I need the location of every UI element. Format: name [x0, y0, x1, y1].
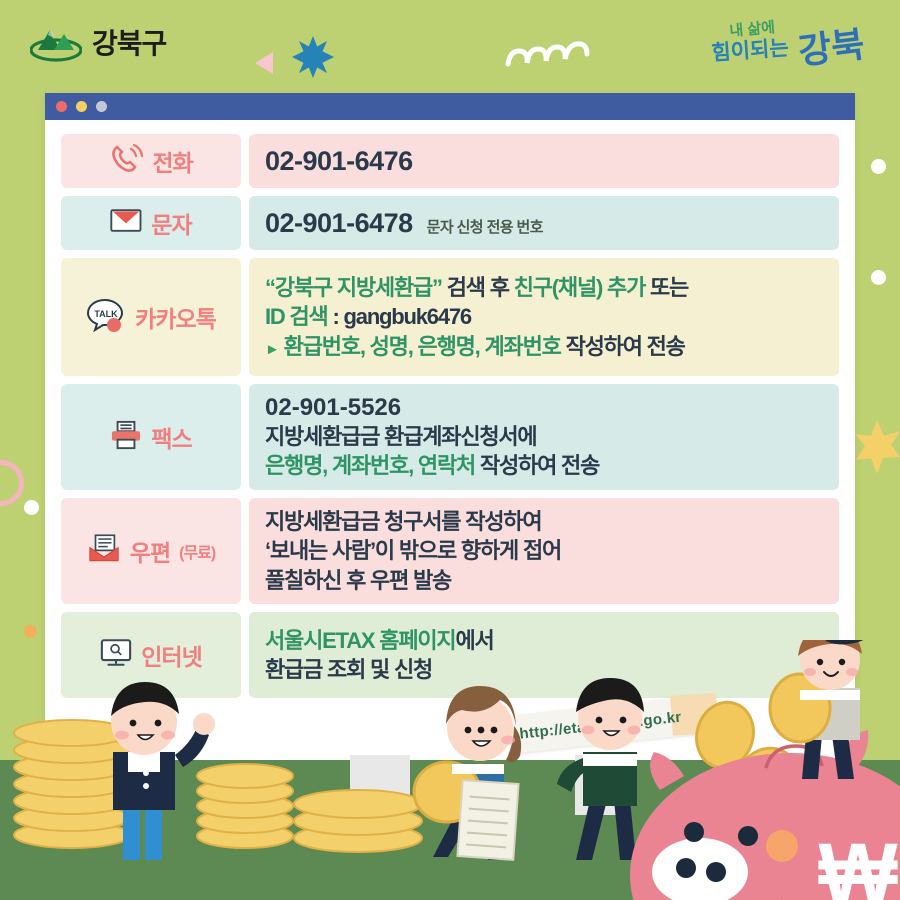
- blue-star-icon: [292, 36, 334, 78]
- phone-number: 02-901-6476: [265, 146, 413, 177]
- fax-form-text: 지방세환급금 환급계좌신청서에: [265, 424, 536, 449]
- row-label-text: 전화: [152, 144, 192, 178]
- kakao-add-friend: 친구(채널) 추가: [514, 275, 645, 300]
- coin-stack-icon: [14, 720, 422, 852]
- row-label-postal-mail: 우편 (무료): [61, 498, 241, 604]
- deco-dot-white-left: [24, 500, 39, 515]
- row-label-text: 우편: [130, 534, 170, 568]
- bullet-icon: ►: [265, 341, 279, 358]
- fax-printer-icon: [110, 420, 142, 455]
- kakao-text-2: 또는: [645, 275, 688, 300]
- table-row: 문자 02-901-6478 문자 신청 전용 번호: [61, 196, 839, 250]
- row-label-kakaotalk: TALK 카카오톡: [61, 258, 241, 376]
- sms-number: 02-901-6478: [265, 208, 413, 239]
- open-envelope-icon: [87, 534, 121, 568]
- row-label-text: 팩스: [151, 420, 191, 454]
- row-label-sub: (무료): [179, 539, 215, 563]
- bottom-illustration: ₩: [0, 640, 900, 900]
- row-label-phone: 전화: [61, 134, 241, 188]
- maximize-dot-icon[interactable]: [96, 101, 107, 112]
- table-row: 전화 02-901-6476: [61, 134, 839, 188]
- deco-arc-pink: [0, 460, 24, 506]
- district-name: 강북구: [92, 22, 166, 62]
- envelope-icon: [110, 208, 142, 238]
- close-dot-icon[interactable]: [56, 101, 67, 112]
- kakaotalk-line-3: ►환급번호, 성명, 은행명, 계좌번호 작성하여 전송: [265, 332, 823, 361]
- page-header: 강북구 내 삶에 힘이되는 강북: [0, 0, 900, 95]
- district-slogan: 내 삶에 힘이되는 강북: [708, 14, 878, 82]
- fax-required-fields: 은행명, 계좌번호, 연락처: [265, 453, 475, 478]
- row-body-kakaotalk: “강북구 지방세환급” 검색 후 친구(채널) 추가 또는 ID 검색 : ga…: [249, 258, 839, 376]
- piggy-bank-icon: ₩: [630, 730, 900, 900]
- kakao-text-1: 검색 후: [442, 275, 514, 300]
- kakao-search-term: “강북구 지방세환급”: [265, 275, 442, 300]
- mail-line-1: 지방세환급금 청구서를 작성하여: [265, 507, 823, 536]
- row-label-text: 문자: [151, 206, 191, 240]
- table-row: 팩스 02-901-5526 지방세환급금 환급계좌신청서에 은행명, 계좌번호…: [61, 384, 839, 490]
- kakao-id-label: ID 검색: [265, 304, 328, 329]
- row-label-text: 카카오톡: [135, 300, 216, 334]
- kakaotalk-line-1: “강북구 지방세환급” 검색 후 친구(채널) 추가 또는: [265, 273, 823, 302]
- fax-number: 02-901-5526: [265, 394, 823, 422]
- slogan-line1: 내 삶에: [729, 19, 776, 40]
- sms-note: 문자 신청 전용 번호: [427, 216, 543, 237]
- window-titlebar: [45, 93, 855, 120]
- deco-dot-white-right-mid: [871, 270, 886, 285]
- yellow-star-icon: [854, 418, 900, 474]
- mail-line-2: ‘보내는 사람’이 밖으로 향하게 접어: [265, 536, 823, 565]
- row-label-sms: 문자: [61, 196, 241, 250]
- won-symbol: ₩: [818, 826, 898, 900]
- kakaotalk-line-2: ID 검색 : gangbuk6476: [265, 302, 823, 331]
- row-body-phone: 02-901-6476: [249, 134, 839, 188]
- row-body-fax: 02-901-5526 지방세환급금 환급계좌신청서에 은행명, 계좌번호, 연…: [249, 384, 839, 490]
- district-logo: 강북구: [30, 22, 166, 62]
- kakaotalk-icon: TALK: [86, 298, 126, 337]
- mountain-logo-icon: [30, 22, 82, 62]
- svg-text:TALK: TALK: [95, 309, 119, 319]
- kakao-id-value: : gangbuk6476: [328, 304, 471, 329]
- table-row: TALK 카카오톡 “강북구 지방세환급” 검색 후 친구(채널) 추가 또는 …: [61, 258, 839, 376]
- fax-send-text: 작성하여 전송: [475, 453, 599, 478]
- kakao-send-text: 작성하여 전송: [561, 334, 685, 359]
- phone-icon: [109, 143, 143, 180]
- white-loops-icon: [505, 33, 610, 67]
- row-label-fax: 팩스: [61, 384, 241, 490]
- table-row: 우편 (무료) 지방세환급금 청구서를 작성하여 ‘보내는 사람’이 밖으로 향…: [61, 498, 839, 604]
- row-body-sms: 02-901-6478 문자 신청 전용 번호: [249, 196, 839, 250]
- slogan-brand: 강북: [796, 23, 867, 72]
- fax-line-1: 지방세환급금 환급계좌신청서에: [265, 422, 823, 451]
- kakao-required-fields: 환급번호, 성명, 은행명, 계좌번호: [284, 334, 561, 359]
- pink-triangle-icon: [255, 52, 273, 74]
- fax-line-2: 은행명, 계좌번호, 연락처 작성하여 전송: [265, 451, 823, 480]
- row-body-postal-mail: 지방세환급금 청구서를 작성하여 ‘보내는 사람’이 밖으로 향하게 접어 풀칠…: [249, 498, 839, 604]
- minimize-dot-icon[interactable]: [76, 101, 87, 112]
- mail-line-3: 풀칠하신 후 우편 발송: [265, 566, 823, 595]
- deco-dot-amber-left: [24, 625, 37, 638]
- slogan-line2: 힘이되는: [711, 37, 790, 65]
- deco-dot-white-right-top: [871, 159, 886, 174]
- contact-methods-table: 전화 02-901-6476 문자 02-: [45, 120, 855, 708]
